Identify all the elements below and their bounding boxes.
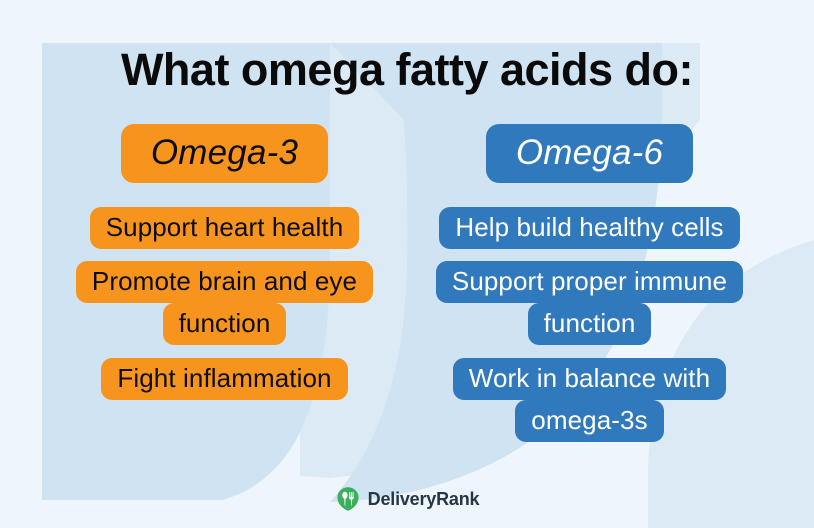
benefit-item: Support heart health [90,206,360,248]
benefit-columns: Omega-3 Support heart health Promote bra… [42,124,772,441]
column-header-omega-6: Omega-6 [486,124,693,183]
brand-logo-text: DeliveryRank [368,490,480,508]
benefit-text: Fight inflammation [101,358,347,400]
column-header-omega-3: Omega-3 [121,124,328,183]
benefit-item: Help build healthy cells [439,206,739,248]
delivery-rank-spoon-fork-icon [335,486,361,512]
page-title: What omega fatty acids do: [0,45,814,95]
benefit-item: Work in balance with omega-3s [440,357,740,441]
benefit-item: Support proper immune function [425,260,755,344]
benefit-text: Work in balance with omega-3s [453,358,726,442]
benefit-item: Fight inflammation [101,357,347,399]
benefit-text: Help build healthy cells [439,207,739,249]
benefit-item: Promote brain and eye function [61,260,389,344]
benefit-text: Promote brain and eye function [76,261,373,345]
brand-logo: DeliveryRank [0,486,814,512]
column-omega-3: Omega-3 Support heart health Promote bra… [42,124,407,399]
column-omega-6: Omega-6 Help build healthy cells Support… [407,124,772,441]
benefit-text: Support heart health [90,207,360,249]
infographic-canvas: What omega fatty acids do: Omega-3 Suppo… [0,0,814,528]
benefit-text: Support proper immune function [436,261,743,345]
